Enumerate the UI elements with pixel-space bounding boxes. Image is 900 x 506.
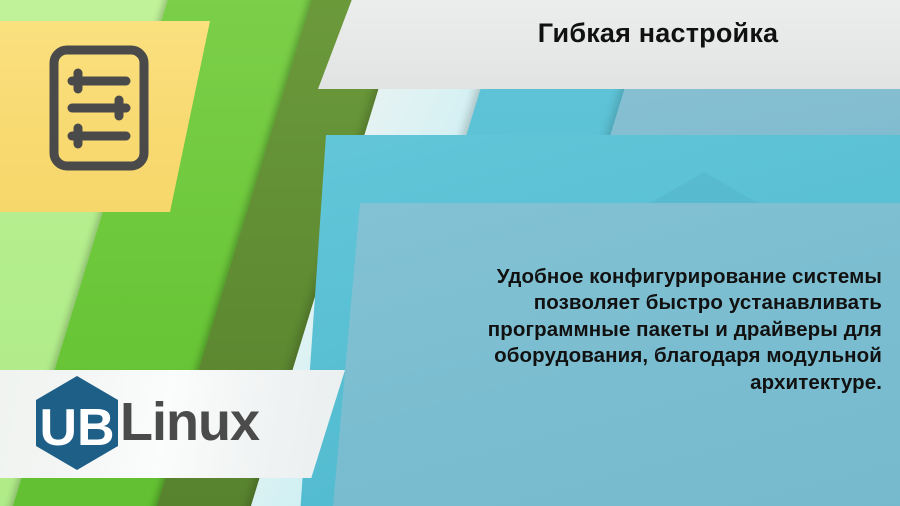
brand-logo: UB Linux	[34, 373, 259, 473]
page-title: Гибкая настройка	[318, 18, 900, 49]
title-panel: Гибкая настройка	[318, 0, 900, 89]
svg-text:UB: UB	[39, 399, 114, 457]
body-paragraph: Удобное конфигурирование системы позволя…	[418, 264, 882, 396]
settings-sliders-icon	[48, 44, 150, 172]
ub-hexagon-icon: UB	[34, 375, 120, 471]
slide-root: UB Удобное конфигурирование системы позв…	[0, 0, 900, 506]
logo-wordmark: Linux	[120, 395, 259, 449]
